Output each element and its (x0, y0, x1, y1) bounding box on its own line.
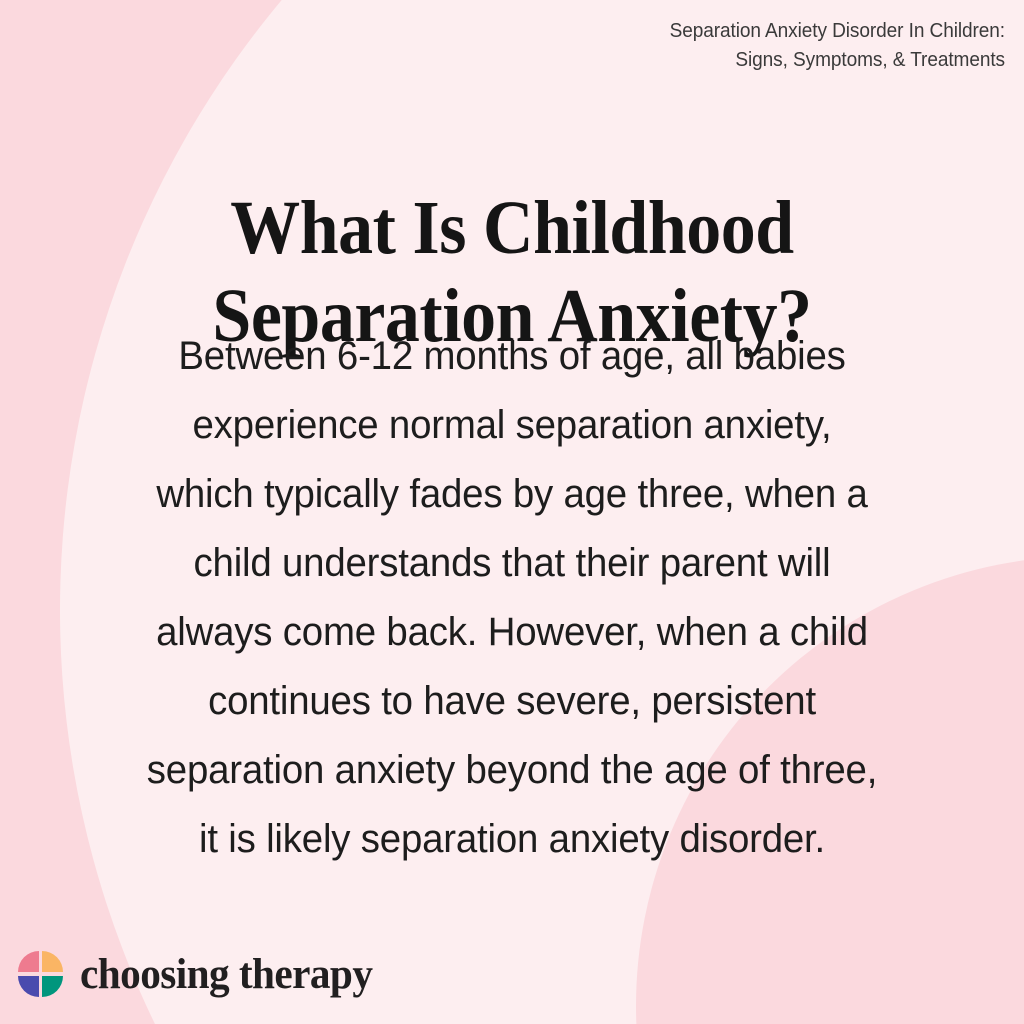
article-kicker-line-1: Separation Anxiety Disorder In Children: (484, 16, 1005, 45)
brand-wordmark: choosing therapy (80, 953, 372, 996)
page-title-line-1: What Is Childhood (41, 184, 983, 272)
body-line: it is likely separation anxiety disorder… (20, 805, 1003, 874)
body-line: which typically fades by age three, when… (20, 460, 1003, 529)
logo-quadrant-top-left-icon (18, 951, 39, 972)
infographic-card: Separation Anxiety Disorder In Children:… (0, 0, 1024, 1024)
body-line: experience normal separation anxiety, (20, 391, 1003, 460)
choosing-therapy-petal-mark-icon (18, 951, 63, 997)
logo-quadrant-top-right-icon (42, 951, 63, 972)
article-kicker-line-2: Signs, Symptoms, & Treatments (484, 45, 1005, 74)
brand-logo[interactable]: choosing therapy (18, 951, 385, 997)
body-line: child understands that their parent will (20, 529, 1003, 598)
body-line: Between 6-12 months of age, all babies (20, 322, 1003, 391)
body-line: separation anxiety beyond the age of thr… (20, 736, 1003, 805)
article-kicker: Separation Anxiety Disorder In Children:… (484, 16, 1005, 74)
body-line: continues to have severe, persistent (20, 667, 1003, 736)
logo-quadrant-bottom-right-icon (42, 976, 63, 997)
logo-quadrant-bottom-left-icon (18, 976, 39, 997)
body-line: always come back. However, when a child (20, 598, 1003, 667)
body-paragraph: Between 6-12 months of age, all babies e… (0, 322, 1024, 874)
